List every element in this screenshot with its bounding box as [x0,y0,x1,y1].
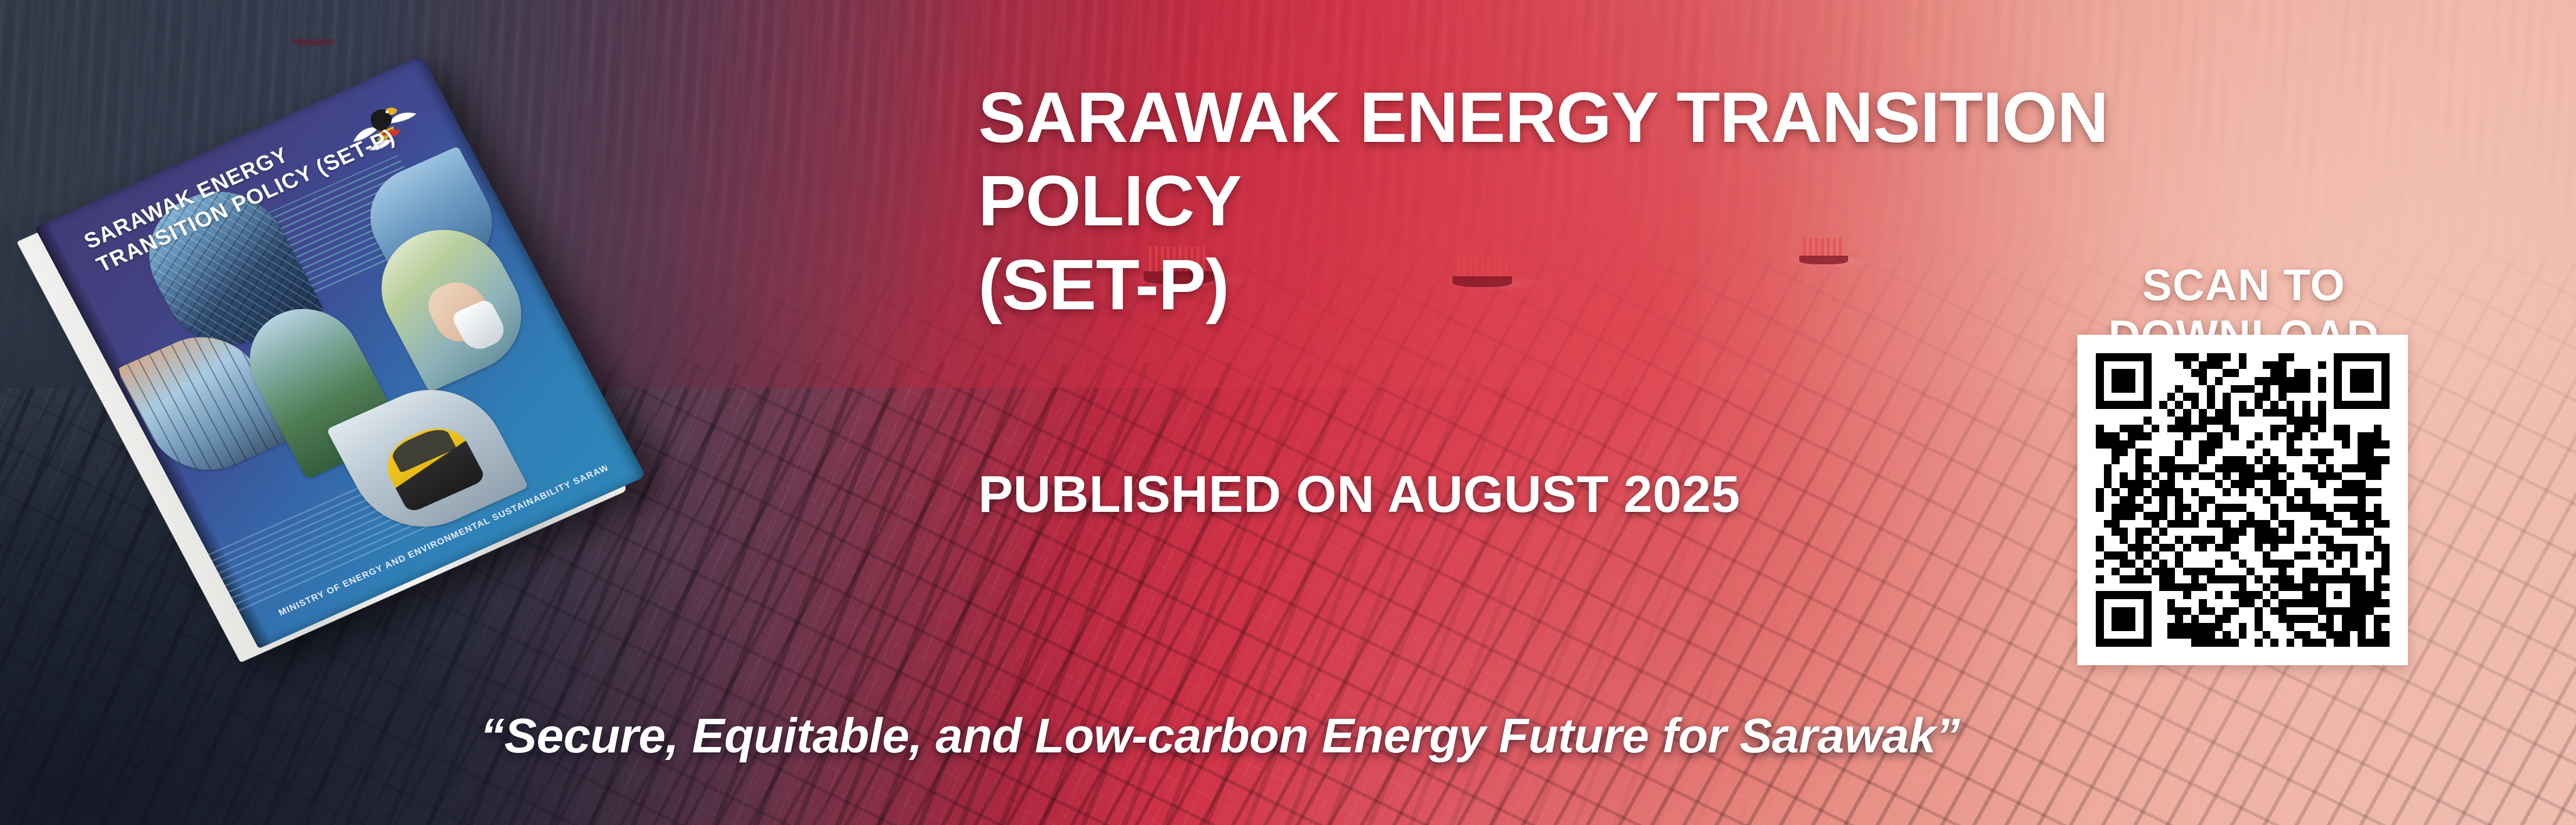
publication-date: PUBLISHED ON AUGUST 2025 [978,465,1740,524]
qr-code-matrix [2096,353,2390,647]
tagline: “Secure, Equitable, and Low-carbon Energ… [480,709,1960,764]
book-cover: SARAWAK ENERGY TRANSITION POLICY (SET-P)… [35,55,645,648]
longboat [293,27,335,46]
policy-book-mockup: SARAWAK ENERGY TRANSITION POLICY (SET-P)… [64,81,839,655]
page-title-line-1: SARAWAK ENERGY TRANSITION POLICY [978,76,2322,243]
set-p-promotional-banner: SARAWAK ENERGY TRANSITION POLICY (SET-P)… [0,0,2576,825]
qr-code[interactable] [2077,335,2408,665]
boat-hull [293,39,335,46]
